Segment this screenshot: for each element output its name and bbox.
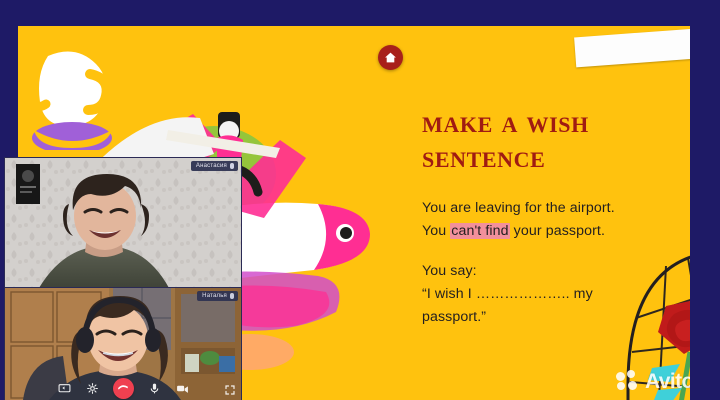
- home-icon: [384, 51, 397, 64]
- gear-icon: [86, 382, 99, 395]
- camera-button[interactable]: [175, 381, 190, 395]
- avito-wordmark: Avito: [645, 371, 690, 392]
- video-tile-natalya[interactable]: Наталья: [4, 287, 242, 400]
- avito-dots-logo: [616, 370, 642, 392]
- highlighted-phrase: can't find: [450, 223, 509, 239]
- video-feed-1: [5, 158, 241, 288]
- screen-share-icon: [58, 382, 71, 395]
- home-button[interactable]: [378, 45, 403, 70]
- title-line-1: Make a wish: [422, 103, 589, 139]
- camera-icon: [176, 382, 189, 395]
- microphone-button[interactable]: [147, 381, 162, 395]
- avito-watermark: Avito: [616, 366, 690, 396]
- fullscreen-icon: [224, 384, 236, 396]
- participant-name-chip-1: Анастасия: [191, 161, 238, 171]
- slide-text-column: Make a wish sentence You are leaving for…: [422, 104, 690, 329]
- participant-name-2: Наталья: [202, 293, 227, 299]
- microphone-icon: [148, 382, 161, 395]
- body-line-2: You can't find your passport.: [422, 220, 690, 243]
- teapot-illustration: [20, 30, 130, 150]
- body-line-2-before: You: [422, 223, 450, 239]
- participant-name-1: Анастасия: [196, 163, 227, 169]
- body-line-2-after: your passport.: [510, 223, 605, 239]
- title-line-2: sentence: [422, 138, 545, 174]
- body-line-3: You say:: [422, 260, 690, 283]
- slide-body: You are leaving for the airport. You can…: [422, 197, 690, 329]
- call-control-bar: [5, 376, 241, 400]
- hangup-icon: [117, 382, 129, 394]
- body-line-4: “I wish I ……………….. my: [422, 283, 690, 306]
- screen: Make a wish sentence You are leaving for…: [0, 0, 720, 400]
- body-line-5: passport.”: [422, 306, 690, 329]
- settings-button[interactable]: [85, 381, 100, 395]
- mic-icon: [230, 293, 234, 299]
- participant-name-chip-2: Наталья: [197, 291, 238, 301]
- fullscreen-button[interactable]: [224, 383, 236, 395]
- mic-icon: [230, 163, 234, 169]
- tape-note: [574, 27, 690, 68]
- body-line-1: You are leaving for the airport.: [422, 197, 690, 220]
- video-tile-anastasia[interactable]: Анастасия: [4, 157, 242, 289]
- share-screen-button[interactable]: [57, 381, 72, 395]
- end-call-button[interactable]: [113, 378, 134, 399]
- page-title: Make a wish sentence: [422, 104, 690, 173]
